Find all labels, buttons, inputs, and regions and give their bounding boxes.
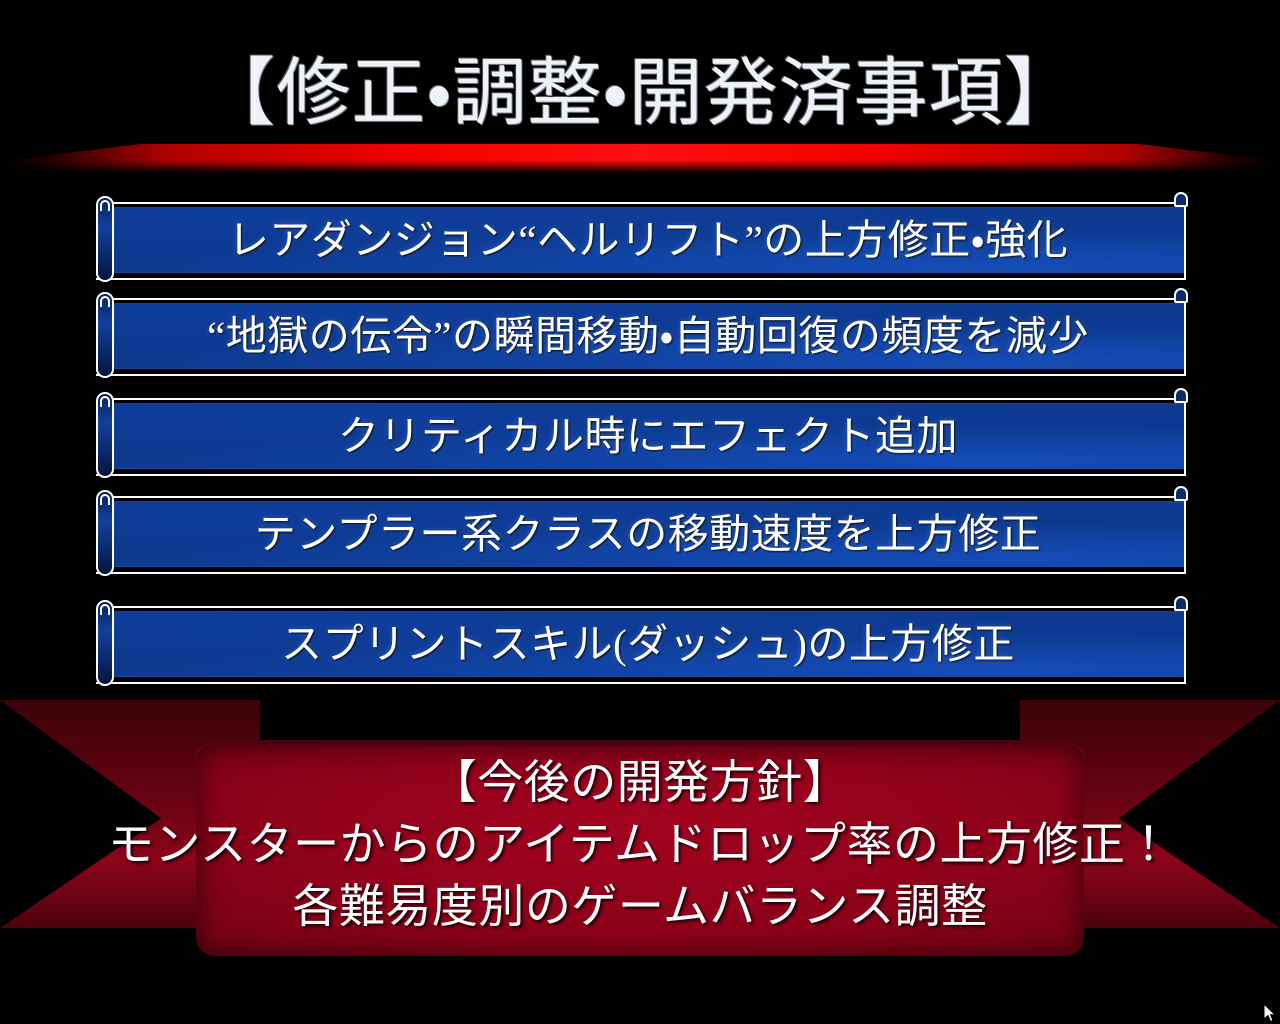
mouse-cursor-icon xyxy=(1264,1004,1278,1024)
list-item-label: テンプラー系クラスの移動速度を上方修正 xyxy=(110,501,1186,567)
page-title: 【修正・調整・開発済事項】 xyxy=(0,52,1280,136)
hook-ring-icon xyxy=(1174,192,1188,207)
slide-canvas: 【修正・調整・開発済事項】 レアダンジョン“ヘルリフト”の上方修正・強化 “地獄… xyxy=(0,0,1280,1024)
hook-ring-icon xyxy=(1174,288,1188,303)
ribbon-text-block: 【今後の開発方針】 モンスターからのアイテムドロップ率の上方修正！ 各難易度別の… xyxy=(0,752,1280,938)
list-item-label: “地獄の伝令”の瞬間移動・自動回復の頻度を減少 xyxy=(110,303,1186,369)
list-item[interactable]: テンプラー系クラスの移動速度を上方修正 xyxy=(96,490,1186,576)
hook-ring-icon xyxy=(1174,596,1188,611)
list-item[interactable]: クリティカル時にエフェクト追加 xyxy=(96,392,1186,478)
list-item[interactable]: スプリントスキル(ダッシュ)の上方修正 xyxy=(96,600,1186,686)
list-item-label: クリティカル時にエフェクト追加 xyxy=(110,403,1186,469)
list-item-label: レアダンジョン“ヘルリフト”の上方修正・強化 xyxy=(110,207,1186,273)
roadmap-ribbon: 【今後の開発方針】 モンスターからのアイテムドロップ率の上方修正！ 各難易度別の… xyxy=(0,700,1280,962)
hook-ring-icon xyxy=(1174,486,1188,501)
hook-ring-icon xyxy=(1174,388,1188,403)
red-divider-bar xyxy=(0,144,1280,174)
list-item[interactable]: レアダンジョン“ヘルリフト”の上方修正・強化 xyxy=(96,196,1186,282)
ribbon-line-2: 各難易度別のゲームバランス調整 xyxy=(0,876,1280,938)
list-item[interactable]: “地獄の伝令”の瞬間移動・自動回復の頻度を減少 xyxy=(96,292,1186,378)
feature-bar-list: レアダンジョン“ヘルリフト”の上方修正・強化 “地獄の伝令”の瞬間移動・自動回復… xyxy=(0,196,1280,696)
title-block: 【修正・調整・開発済事項】 xyxy=(0,0,1280,150)
ribbon-heading: 【今後の開発方針】 xyxy=(0,752,1280,814)
ribbon-line-1: モンスターからのアイテムドロップ率の上方修正！ xyxy=(0,814,1280,876)
list-item-label: スプリントスキル(ダッシュ)の上方修正 xyxy=(110,611,1186,677)
